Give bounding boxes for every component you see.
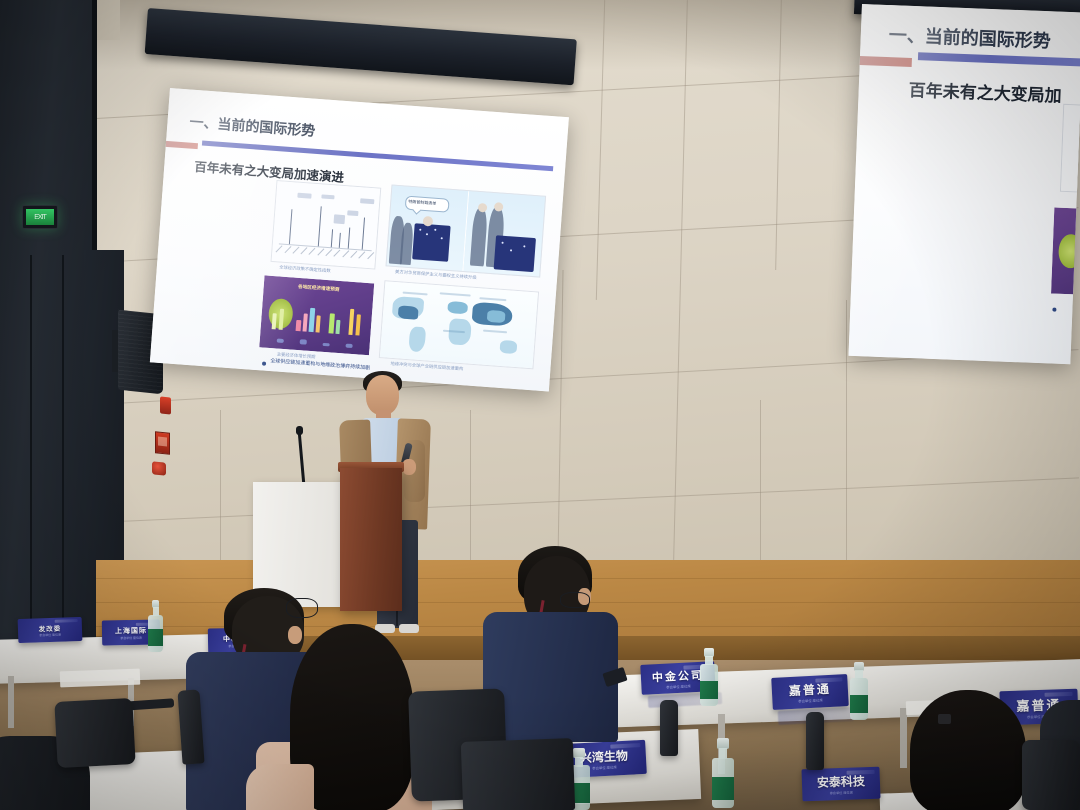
wall-seam (220, 410, 221, 570)
name-placard-jiaputong-1: 嘉普通 参会单位 座位席 (771, 674, 849, 710)
axis-tick (367, 252, 374, 259)
fire-alarm-box (155, 431, 170, 455)
axis-tick (284, 246, 291, 253)
slide-panel-world-map (379, 280, 539, 369)
chair (806, 712, 824, 770)
legend-pill (323, 343, 330, 347)
chair (461, 738, 575, 810)
map-annotation (483, 330, 508, 334)
cartoon-left: 特朗普制裁清单 (387, 186, 469, 271)
slide-panel-bar-chart: 各地区经济增速预测 (259, 275, 374, 355)
placard-sub-text: 参会单位 座位席 (120, 635, 142, 639)
slide-panel-line-chart (271, 180, 382, 269)
slide-bullet-text: 全球供应链加速重构与地缘政治博弈持续加剧 (270, 357, 370, 371)
wall-seam (846, 300, 847, 560)
name-placard-antai: 安泰科技 参会单位 座位席 (801, 767, 880, 802)
slide-accent-rule-red (166, 141, 198, 149)
water-bottle (148, 600, 163, 652)
placard-sub-text: 参会单位 座位席 (798, 697, 823, 703)
water-bottle (850, 662, 868, 720)
cartoon-star (509, 249, 511, 251)
bar (348, 309, 354, 335)
axis-tick (292, 246, 299, 253)
chart-annotation (361, 198, 375, 204)
slide-bullet-marker-right (1052, 308, 1056, 312)
attendee-shoulder (246, 764, 314, 810)
world-map (380, 281, 538, 368)
microphone-capsule (296, 426, 303, 435)
legend-pill (277, 339, 284, 343)
cartoon-flag (412, 223, 451, 262)
cartoon-star (434, 229, 436, 231)
main-slide: 一、当前的国际形势 百年未有之大变局加速演进 (150, 88, 569, 392)
cartoon-star (419, 229, 421, 231)
slide-bullet-marker (262, 361, 266, 365)
chair (1022, 740, 1080, 810)
legend-pill (300, 339, 307, 345)
secondary-slide: 一、当前的国际形势 百年未有之大变局加 (848, 4, 1080, 364)
chart-annotation (333, 214, 345, 224)
map-region-china (487, 310, 506, 323)
bottle-label (850, 695, 868, 714)
bar (296, 320, 301, 332)
chart-annotation (347, 210, 359, 216)
spike-chart (272, 181, 381, 268)
bar (335, 320, 340, 335)
document-sheet (60, 669, 141, 688)
chart-annotation (297, 193, 312, 199)
attendee-glasses (560, 592, 590, 608)
placard-sub-text: 参会单位 座位席 (592, 764, 617, 770)
left-dark-wall (0, 0, 96, 640)
map-region-us (398, 305, 419, 319)
map-annotation (440, 292, 471, 296)
conference-hall-photo: EXIT 一、当前的国际形势 百年未有之大变局加速演进 (0, 0, 1080, 810)
legend-pill (346, 343, 353, 348)
slide-subtitle-right: 百年未有之大变局加 (908, 76, 1062, 107)
slide-title-right: 一、当前的国际形势 (888, 21, 1051, 53)
table-leg (8, 676, 14, 728)
chart-tick-row (278, 244, 371, 262)
map-region-europe (447, 301, 468, 315)
emergency-exit-sign: EXIT (22, 205, 58, 229)
attendee-glasses (286, 598, 318, 618)
slide-panel-caption: 全球经济政策不确定性指数 (279, 264, 331, 274)
placard-sub-text: 参会单位 座位席 (666, 683, 691, 689)
placard-sub-text: 参会单位 座位席 (39, 633, 61, 638)
map-annotation (403, 292, 428, 296)
secondary-projection-screen: 一、当前的国际形势 百年未有之大变局加 (848, 4, 1080, 364)
fire-strobe-icon (160, 396, 171, 414)
axis-tick (359, 251, 366, 258)
bottle-label (700, 681, 718, 700)
map-region-oceania (500, 340, 518, 354)
table-leg (900, 708, 907, 768)
cartoon-figure-head (493, 202, 503, 212)
axis-tick (301, 247, 308, 254)
axis-tick (317, 248, 324, 255)
attendee-long-hair (910, 690, 1026, 810)
spike-chart-right (1061, 105, 1080, 194)
bar (329, 313, 335, 333)
slide-right-panel-chart (1060, 104, 1080, 195)
cartoon-star (523, 245, 525, 247)
placard-name-text: 嘉普通 (788, 680, 831, 699)
placard-name-text: 中金公司 (651, 666, 704, 685)
slide-subtitle: 百年未有之大变局加速演进 (194, 156, 345, 186)
slide-panel-cartoon: 特朗普制裁清单 (386, 184, 547, 277)
slide-accent-rule-right (918, 52, 1080, 67)
presenter-head (366, 375, 399, 415)
placard-name-text: 上海国际 (115, 625, 147, 636)
name-placard: 发改委 参会单位 座位席 (18, 617, 83, 643)
chair (54, 698, 135, 768)
bar (309, 308, 315, 333)
cartoon-star (501, 242, 503, 244)
axis-tick (342, 250, 349, 257)
placard-name-text: 安泰科技 (817, 772, 866, 791)
slide-accent-rule-red-right (860, 56, 912, 67)
bar (315, 315, 321, 333)
wall-seam (470, 410, 471, 565)
bottle-label (148, 629, 163, 646)
wall-seam (760, 400, 761, 570)
water-bottle (712, 738, 734, 808)
presenter-hand (402, 459, 416, 475)
bar (302, 313, 308, 332)
chart-spike (361, 218, 364, 250)
cartoon-figure (469, 208, 487, 267)
chart-annotation (322, 194, 335, 200)
bar-chart: 各地区经济增速预测 (259, 275, 374, 355)
fire-bell-icon (152, 461, 166, 475)
cartoon-star (426, 233, 428, 235)
axis-tick (326, 249, 333, 256)
chart-spike (330, 229, 332, 247)
axis-tick (334, 249, 341, 256)
axis-tick (276, 245, 283, 252)
bottle-label (712, 777, 734, 799)
exit-sign-glyph: EXIT (26, 209, 54, 225)
attendee-ear (288, 626, 302, 644)
door-seam (62, 255, 64, 645)
presenter-shoe-right (399, 624, 419, 633)
bar (355, 314, 361, 336)
cartoon-figure-head (477, 203, 487, 213)
axis-tick (350, 250, 357, 257)
bar-chart-title: 各地区经济增速预测 (264, 281, 374, 295)
chart-spike (318, 207, 322, 247)
chart-spike (289, 209, 293, 244)
slide-title: 一、当前的国际形势 (189, 112, 316, 141)
podium (340, 468, 402, 611)
cartoon-flag (493, 235, 535, 272)
water-bottle (700, 648, 718, 706)
chart-spike (339, 233, 341, 248)
map-annotation (479, 297, 507, 301)
door-seam (30, 255, 32, 645)
cartoon-right (463, 191, 545, 276)
chart-spike (348, 227, 351, 249)
bar-chart-legend-row (268, 335, 361, 349)
map-region-south-america (408, 326, 427, 353)
attendee-hair-clip (938, 714, 951, 724)
main-projection-screen: 一、当前的国际形势 百年未有之大变局加速演进 (150, 88, 569, 392)
placard-sub-text: 参会单位 座位席 (830, 790, 853, 796)
axis-tick (309, 247, 316, 254)
chair (660, 700, 678, 756)
